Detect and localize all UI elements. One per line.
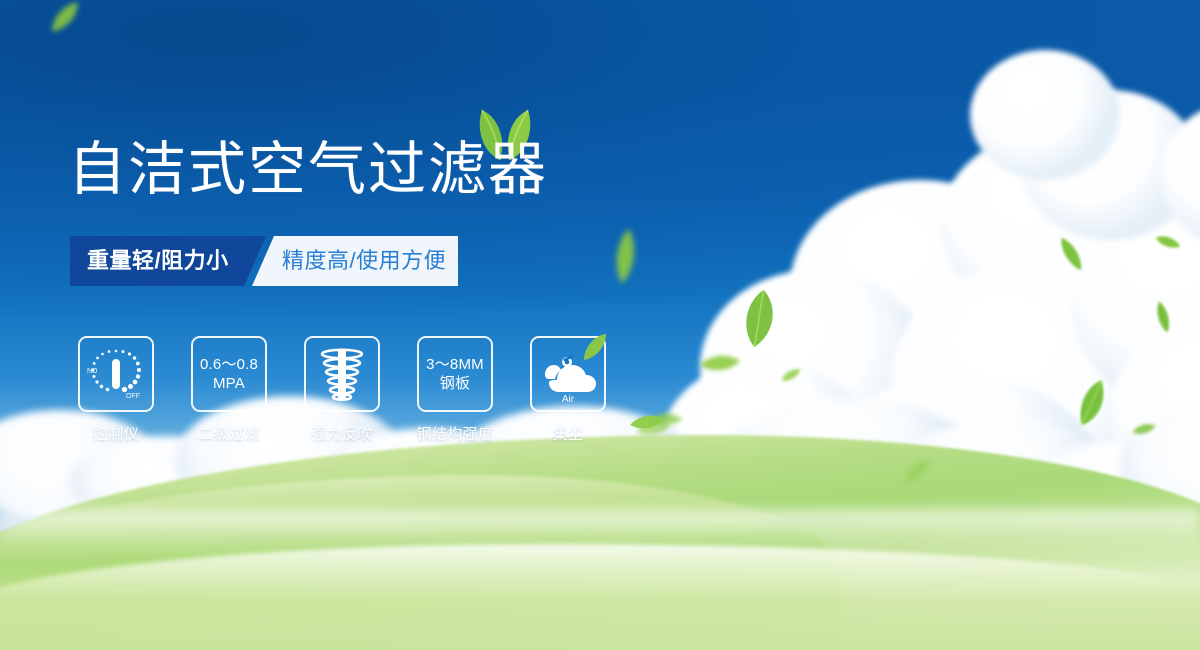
subtitle-primary-text: 重量轻/阻力小 xyxy=(87,236,229,286)
pressure-text-icon: 0.6～0.8 MPA xyxy=(191,336,267,412)
svg-text:NO: NO xyxy=(87,368,98,375)
feature-list: NO OFF 控制仪 0.6～0.8 MPA 二级过滤 xyxy=(78,336,606,444)
subtitle-banner: 重量轻/阻力小 精度高/使用方便 xyxy=(70,236,458,286)
feature-label: 二级过滤 xyxy=(198,423,260,444)
feature-item-steel[interactable]: 3～8MM 钢板 钢结构强度 xyxy=(417,336,493,444)
cloud-air-icon: Air xyxy=(530,336,606,412)
feature-label: 强力反吹 xyxy=(311,423,373,444)
feature-item-dust[interactable]: Air 集尘 xyxy=(530,336,606,444)
feature-label: 控制仪 xyxy=(93,423,139,444)
coil-blowback-icon xyxy=(304,336,380,412)
feature-item-blowback[interactable]: 强力反吹 xyxy=(304,336,380,444)
hero-content: 自洁式空气过滤器 重量轻/阻力小 精度高/使用方便 xyxy=(0,0,1200,650)
feature-item-control[interactable]: NO OFF 控制仪 xyxy=(78,336,154,444)
control-dial-icon: NO OFF xyxy=(78,336,154,412)
svg-text:Air: Air xyxy=(562,394,575,402)
feature-label: 集尘 xyxy=(553,423,584,444)
hero-banner: 自洁式空气过滤器 重量轻/阻力小 精度高/使用方便 xyxy=(0,0,1200,650)
svg-text:OFF: OFF xyxy=(126,393,140,400)
subtitle-secondary-text: 精度高/使用方便 xyxy=(282,236,446,286)
pressure-line-2: MPA xyxy=(200,374,258,393)
page-title: 自洁式空气过滤器 xyxy=(68,141,548,199)
feature-label: 钢结构强度 xyxy=(417,423,494,444)
steel-line-1: 3～8MM xyxy=(426,355,484,374)
pressure-line-1: 0.6～0.8 xyxy=(200,355,258,374)
feature-item-pressure[interactable]: 0.6～0.8 MPA 二级过滤 xyxy=(191,336,267,444)
steel-line-2: 钢板 xyxy=(426,374,484,393)
steel-plate-text-icon: 3～8MM 钢板 xyxy=(417,336,493,412)
